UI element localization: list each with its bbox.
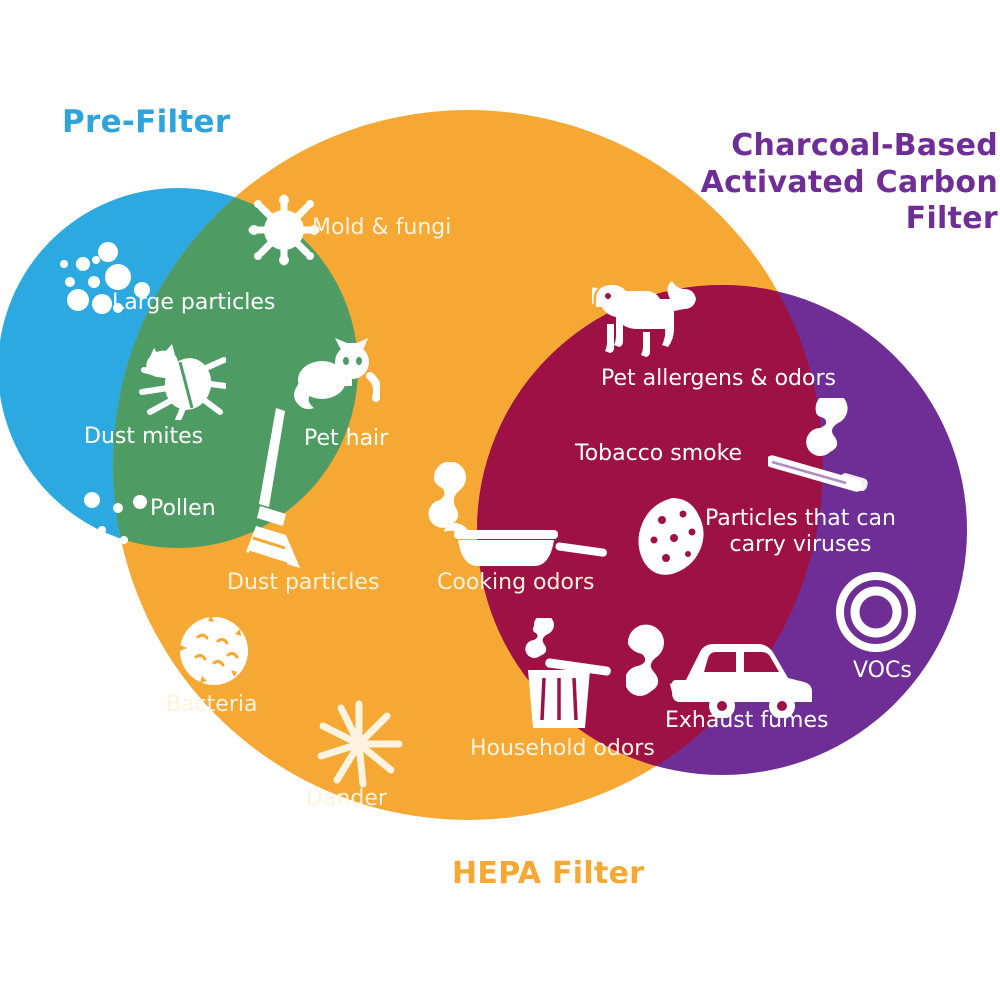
car-exhaust-icon [626, 622, 816, 718]
cat-icon [284, 338, 380, 416]
dog-icon [592, 278, 710, 360]
label-household-odors: Household odors [470, 736, 655, 762]
virus-particle-icon [636, 496, 712, 576]
mold-icon [246, 192, 322, 268]
cigarette-icon [768, 398, 888, 494]
title-carbon-filter: Charcoal-Based Activated Carbon Filter [701, 128, 998, 238]
label-particles-viruses: Particles that can carry viruses [705, 506, 896, 559]
dander-icon [315, 700, 403, 788]
dust-mite-icon [132, 340, 226, 420]
label-vocs: VOCs [853, 658, 912, 684]
vocs-ring-icon [836, 572, 916, 652]
label-dust-mites: Dust mites [84, 424, 203, 450]
label-pet-hair: Pet hair [304, 426, 388, 452]
label-dust-particles: Dust particles [227, 570, 379, 596]
label-pollen: Pollen [150, 496, 216, 522]
label-large-particles: Large particles [112, 290, 275, 316]
label-dander: Dander [306, 786, 387, 812]
label-pet-allergens-odors: Pet allergens & odors [601, 366, 836, 392]
label-bacteria: Bacteria [166, 692, 257, 718]
title-pre-filter: Pre-Filter [62, 104, 230, 142]
label-exhaust-fumes: Exhaust fumes [665, 708, 829, 734]
label-cooking-odors: Cooking odors [437, 570, 594, 596]
label-tobacco-smoke: Tobacco smoke [575, 441, 742, 467]
pan-steam-icon [424, 462, 612, 572]
label-mold-fungi: Mold & fungi [312, 215, 451, 241]
trash-can-icon [518, 618, 618, 734]
bacteria-icon [178, 615, 250, 687]
title-hepa-filter: HEPA Filter [452, 856, 644, 893]
venn-diagram-infographic: Pre-Filter Charcoal-Based Activated Carb… [0, 0, 1000, 1000]
